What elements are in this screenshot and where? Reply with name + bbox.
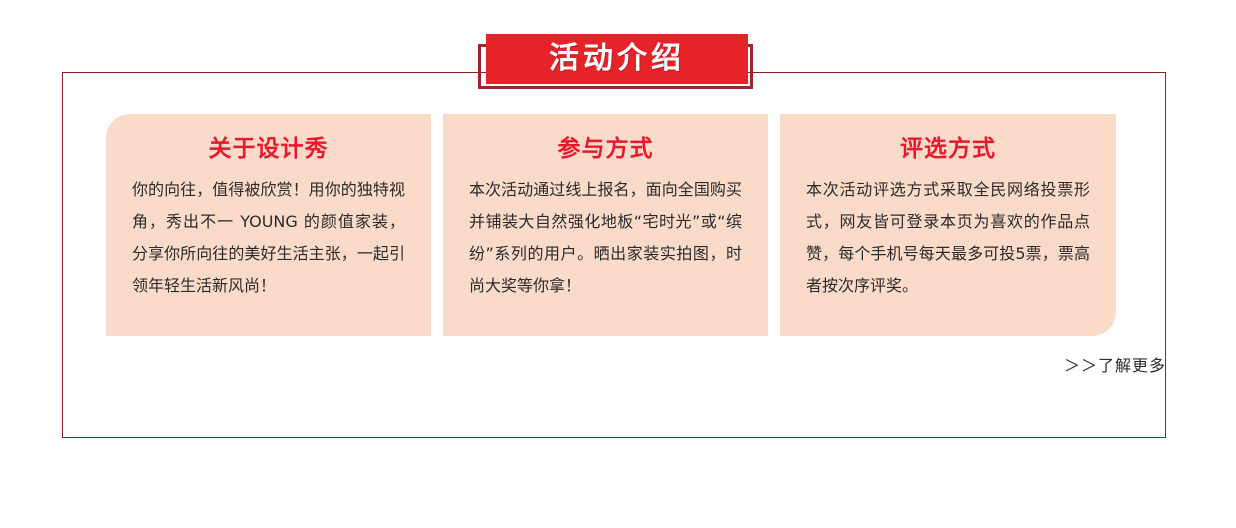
banner-plate: 活动介绍	[486, 34, 748, 84]
learn-more-link[interactable]: ＞＞了解更多	[1064, 352, 1166, 376]
info-card-list: 关于设计秀 你的向往，值得被欣赏！用你的独特视角，秀出不一 YOUNG 的颜值家…	[106, 114, 1118, 336]
info-card-title: 参与方式	[469, 136, 742, 164]
banner-title: 活动介绍	[549, 44, 685, 74]
info-card-body: 你的向往，值得被欣赏！用你的独特视角，秀出不一 YOUNG 的颜值家装，分享你所…	[132, 174, 405, 302]
info-card-title: 评选方式	[806, 136, 1090, 164]
banner-group: 活动介绍	[478, 34, 758, 90]
info-card-about: 关于设计秀 你的向往，值得被欣赏！用你的独特视角，秀出不一 YOUNG 的颜值家…	[106, 114, 431, 336]
info-card-body: 本次活动评选方式采取全民网络投票形式，网友皆可登录本页为喜欢的作品点赞，每个手机…	[806, 174, 1090, 302]
info-card-body: 本次活动通过线上报名，面向全国购买并铺装大自然强化地板“宅时光”或“缤纷”系列的…	[469, 174, 742, 302]
info-card-title: 关于设计秀	[132, 136, 405, 164]
info-card-judging: 评选方式 本次活动评选方式采取全民网络投票形式，网友皆可登录本页为喜欢的作品点赞…	[780, 114, 1116, 336]
info-card-participation: 参与方式 本次活动通过线上报名，面向全国购买并铺装大自然强化地板“宅时光”或“缤…	[443, 114, 768, 336]
